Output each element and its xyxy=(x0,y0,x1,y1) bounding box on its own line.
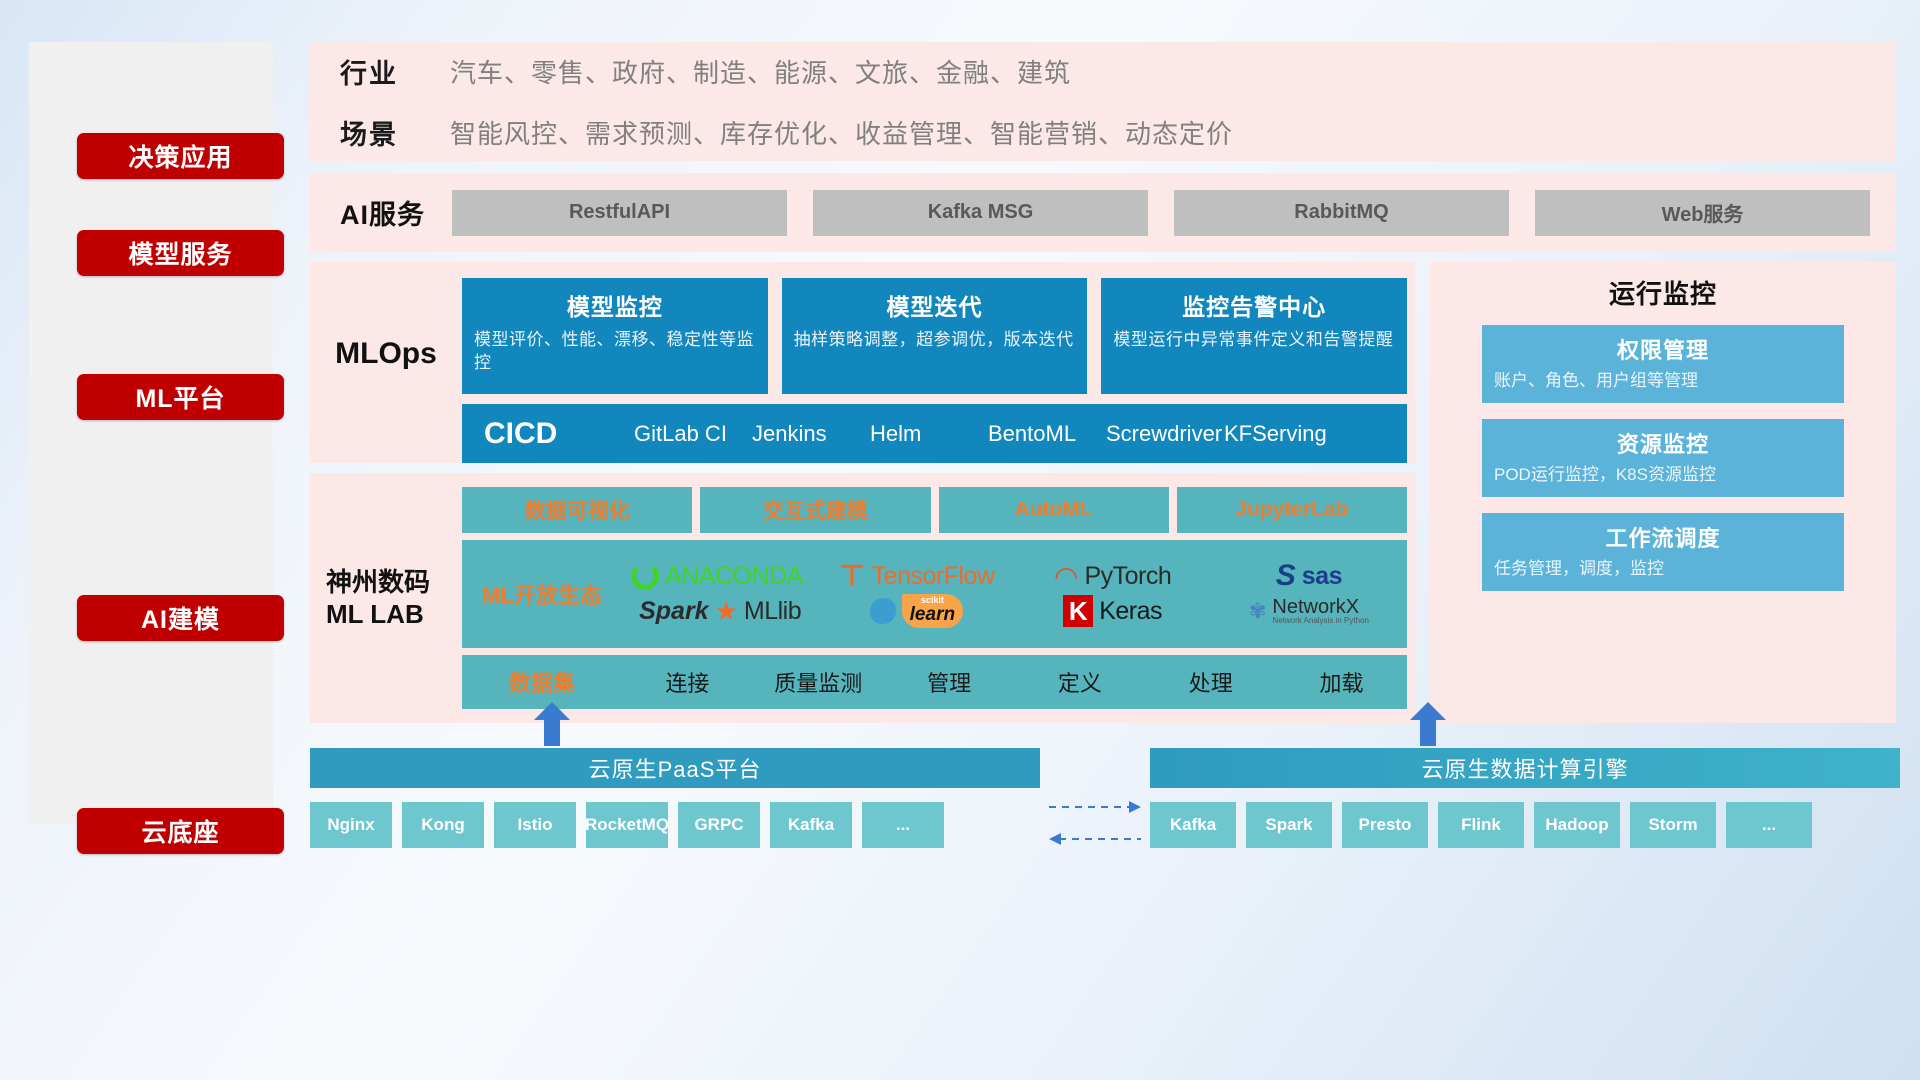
ml-ecosystem-row: ML开放生态 ANACONDA. ⊤ TensorFlow ◠ xyxy=(462,540,1407,648)
dataset-label: 数据集 xyxy=(462,666,622,698)
keras-logo: K Keras xyxy=(1063,595,1162,627)
card-desc: POD运行监控，K8S资源监控 xyxy=(1494,464,1832,487)
dataset-item-define[interactable]: 定义 xyxy=(1014,666,1145,698)
pytorch-logo: ◠ PyTorch xyxy=(1054,560,1171,593)
scikit-learn-logo: scikit learn xyxy=(870,594,963,628)
ai-service-label: AI服务 xyxy=(340,193,452,232)
pytorch-icon: ◠ xyxy=(1054,560,1078,593)
tool-data-visualization[interactable]: 数据可视化 xyxy=(462,487,692,533)
card-title: 资源监控 xyxy=(1494,427,1832,459)
layer-chip-label: ML平台 xyxy=(135,379,225,415)
dataset-item-quality-monitor[interactable]: 质量监测 xyxy=(753,666,884,698)
scikit-learn-logo-text: learn xyxy=(910,604,955,625)
tool-automl[interactable]: AutoML xyxy=(939,487,1169,533)
monitor-card-workflow[interactable]: 工作流调度 任务管理，调度，监控 xyxy=(1482,513,1844,591)
layer-chip-label: 决策应用 xyxy=(128,138,232,174)
card-desc: 模型评价、性能、漂移、稳定性等监控 xyxy=(474,329,756,375)
paas-component-list: Nginx Kong Istio RocketMQ GRPC Kafka ... xyxy=(310,802,944,848)
decision-app-band: 行业 汽车、零售、政府、制造、能源、文旅、金融、建筑 场景 智能风控、需求预测、… xyxy=(310,42,1896,161)
keras-icon: K xyxy=(1063,595,1093,627)
mlops-card-model-monitor[interactable]: 模型监控 模型评价、性能、漂移、稳定性等监控 xyxy=(462,278,768,394)
cicd-item-jenkins[interactable]: Jenkins xyxy=(752,423,870,445)
data-engine-bar[interactable]: 云原生数据计算引擎 xyxy=(1150,748,1900,788)
scikit-blob-icon xyxy=(870,598,896,624)
ml-lab-label-line2: ML LAB xyxy=(326,598,424,631)
card-desc: 账户、角色、用户组等管理 xyxy=(1494,370,1832,393)
paas-chip-grpc[interactable]: GRPC xyxy=(678,802,760,848)
engine-component-list: Kafka Spark Presto Flink Hadoop Storm ..… xyxy=(1150,802,1812,848)
engine-chip-flink[interactable]: Flink xyxy=(1438,802,1524,848)
monitor-card-resource[interactable]: 资源监控 POD运行监控，K8S资源监控 xyxy=(1482,419,1844,497)
spark-wordmark: Spark xyxy=(639,597,708,626)
ai-service-web[interactable]: Web服务 xyxy=(1535,190,1870,236)
keras-logo-text: Keras xyxy=(1099,597,1162,626)
paas-chip-more[interactable]: ... xyxy=(862,802,944,848)
layer-chip-ai-modeling[interactable]: AI建模 xyxy=(77,595,284,641)
paas-chip-nginx[interactable]: Nginx xyxy=(310,802,392,848)
networkx-icon: ✾ xyxy=(1249,599,1267,624)
cicd-bar: CICD GitLab CI Jenkins Helm BentoML Scre… xyxy=(462,404,1407,463)
anaconda-logo-text: ANACONDA. xyxy=(665,562,809,591)
card-desc: 模型运行中异常事件定义和告警提醒 xyxy=(1113,329,1395,352)
dataset-item-load[interactable]: 加载 xyxy=(1276,666,1407,698)
cicd-item-bentoml[interactable]: BentoML xyxy=(988,423,1106,445)
sas-logo: S sas xyxy=(1276,559,1342,593)
anaconda-logo: ANACONDA. xyxy=(631,562,809,591)
ml-lab-label: 神州数码 ML LAB xyxy=(310,487,462,709)
engine-chip-presto[interactable]: Presto xyxy=(1342,802,1428,848)
tensorflow-logo: ⊤ TensorFlow xyxy=(838,559,994,594)
engine-chip-hadoop[interactable]: Hadoop xyxy=(1534,802,1620,848)
architecture-diagram: 决策应用 模型服务 ML平台 AI建模 云底座 行业 汽车、零售、政府、制造、能… xyxy=(0,0,1920,1080)
layer-chip-ml-platform[interactable]: ML平台 xyxy=(77,374,284,420)
engine-chip-spark[interactable]: Spark xyxy=(1246,802,1332,848)
layer-chip-cloud-base[interactable]: 云底座 xyxy=(77,808,284,854)
scenario-label: 场景 xyxy=(340,113,450,152)
runtime-monitoring-title: 运行监控 xyxy=(1482,274,1844,311)
pytorch-logo-text: PyTorch xyxy=(1084,562,1171,591)
cicd-item-screwdriver[interactable]: Screwdriver xyxy=(1106,423,1224,445)
layer-rail: 决策应用 模型服务 ML平台 AI建模 云底座 xyxy=(29,42,273,824)
card-title: 权限管理 xyxy=(1494,333,1832,365)
mlops-card-alert-center[interactable]: 监控告警中心 模型运行中异常事件定义和告警提醒 xyxy=(1101,278,1407,394)
tool-interactive-modeling[interactable]: 交互式建模 xyxy=(700,487,930,533)
card-title: 监控告警中心 xyxy=(1113,288,1395,322)
ai-service-kafka-msg[interactable]: Kafka MSG xyxy=(813,190,1148,236)
scenario-list: 智能风控、需求预测、库存优化、收益管理、智能营销、动态定价 xyxy=(450,114,1233,151)
industry-row: 行业 汽车、零售、政府、制造、能源、文旅、金融、建筑 xyxy=(340,52,1896,91)
arrow-up-engine-icon xyxy=(1410,702,1446,744)
spark-star-icon: ★ xyxy=(715,596,738,627)
card-title: 工作流调度 xyxy=(1494,521,1832,553)
card-desc: 任务管理，调度，监控 xyxy=(1494,558,1832,581)
card-title: 模型监控 xyxy=(474,288,756,322)
spark-mllib-logo: Spark ★ MLlib xyxy=(639,596,801,627)
engine-chip-storm[interactable]: Storm xyxy=(1630,802,1716,848)
layer-chip-label: 云底座 xyxy=(141,813,219,849)
layer-chip-decision-app[interactable]: 决策应用 xyxy=(77,133,284,179)
layer-chip-label: 模型服务 xyxy=(128,235,232,271)
networkx-subtitle: Network Analysis in Python xyxy=(1272,617,1369,625)
layer-chip-label: AI建模 xyxy=(141,600,220,636)
ml-lab-tool-list: 数据可视化 交互式建模 AutoML JupyterLab xyxy=(462,487,1407,533)
monitor-card-permission[interactable]: 权限管理 账户、角色、用户组等管理 xyxy=(1482,325,1844,403)
dataset-item-manage[interactable]: 管理 xyxy=(884,666,1015,698)
mlops-card-list: 模型监控 模型评价、性能、漂移、稳定性等监控 模型迭代 抽样策略调整，超参调优，… xyxy=(462,278,1407,394)
runtime-monitoring-column: 运行监控 权限管理 账户、角色、用户组等管理 资源监控 POD运行监控，K8S资… xyxy=(1430,262,1896,723)
cicd-title: CICD xyxy=(484,417,634,451)
ai-service-restfulapi[interactable]: RestfulAPI xyxy=(452,190,787,236)
ml-lab-label-line1: 神州数码 xyxy=(326,566,430,599)
paas-chip-kafka[interactable]: Kafka xyxy=(770,802,852,848)
ai-modeling-band: 神州数码 ML LAB 数据可视化 交互式建模 AutoML JupyterLa… xyxy=(310,473,1415,723)
ai-service-rabbitmq[interactable]: RabbitMQ xyxy=(1174,190,1509,236)
card-desc: 抽样策略调整，超参调优，版本迭代 xyxy=(794,329,1076,352)
dataset-item-process[interactable]: 处理 xyxy=(1145,666,1276,698)
paas-platform-bar[interactable]: 云原生PaaS平台 xyxy=(310,748,1040,788)
paas-chip-kong[interactable]: Kong xyxy=(402,802,484,848)
networkx-logo: ✾ NetworkX Network Analysis in Python xyxy=(1249,597,1369,625)
scenario-row: 场景 智能风控、需求预测、库存优化、收益管理、智能营销、动态定价 xyxy=(340,113,1896,152)
cicd-item-helm[interactable]: Helm xyxy=(870,423,988,445)
paas-chip-istio[interactable]: Istio xyxy=(494,802,576,848)
ai-service-buttons: RestfulAPI Kafka MSG RabbitMQ Web服务 xyxy=(452,190,1870,236)
anaconda-icon xyxy=(631,562,659,590)
sas-logo-text: sas xyxy=(1302,562,1342,591)
engine-chip-kafka[interactable]: Kafka xyxy=(1150,802,1236,848)
mllib-logo-text: MLlib xyxy=(744,597,801,626)
cicd-item-kfserving[interactable]: KFServing xyxy=(1224,423,1342,445)
networkx-logo-text: NetworkX xyxy=(1272,596,1359,618)
dataset-item-connect[interactable]: 连接 xyxy=(622,666,753,698)
tensorflow-icon: ⊤ xyxy=(838,559,865,594)
layer-chip-model-service[interactable]: 模型服务 xyxy=(77,230,284,276)
tensorflow-logo-text: TensorFlow xyxy=(872,562,995,591)
scikit-learn-badge: scikit learn xyxy=(902,594,963,628)
ml-ecosystem-label: ML开放生态 xyxy=(462,578,622,610)
paas-chip-rocketmq[interactable]: RocketMQ xyxy=(586,802,668,848)
industry-list: 汽车、零售、政府、制造、能源、文旅、金融、建筑 xyxy=(450,53,1071,90)
cicd-item-gitlab-ci[interactable]: GitLab CI xyxy=(634,423,752,445)
tool-jupyterlab[interactable]: JupyterLab xyxy=(1177,487,1407,533)
sas-icon: S xyxy=(1276,559,1296,593)
bidirectional-link-icon xyxy=(1045,795,1145,855)
engine-chip-more[interactable]: ... xyxy=(1726,802,1812,848)
industry-label: 行业 xyxy=(340,52,450,91)
card-title: 模型迭代 xyxy=(794,288,1076,322)
cloud-base-zone: 云原生PaaS平台 云原生数据计算引擎 Nginx Kong Istio Roc… xyxy=(310,700,1900,1060)
mlops-label: MLOps xyxy=(310,278,462,463)
ai-service-band: AI服务 RestfulAPI Kafka MSG RabbitMQ Web服务 xyxy=(310,173,1896,252)
arrow-up-paas-icon xyxy=(534,702,570,744)
mlops-card-model-iteration[interactable]: 模型迭代 抽样策略调整，超参调优，版本迭代 xyxy=(782,278,1088,394)
mlops-band: MLOps 模型监控 模型评价、性能、漂移、稳定性等监控 模型迭代 抽样策略调整… xyxy=(310,262,1415,463)
